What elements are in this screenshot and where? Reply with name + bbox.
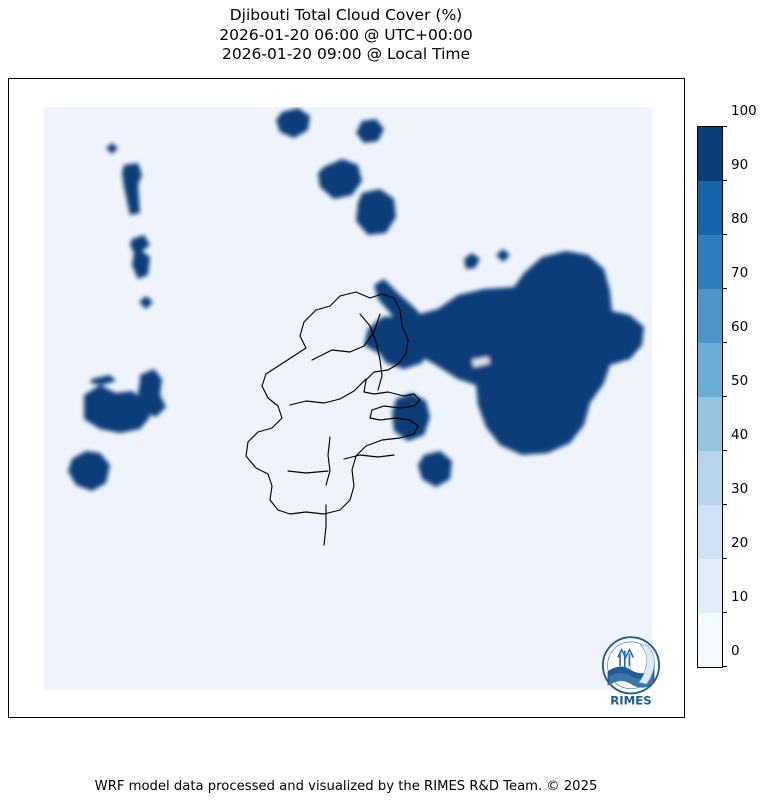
colorbar-band-0-10 bbox=[698, 613, 722, 667]
colorbar-tick-label-0: 0 bbox=[731, 643, 740, 659]
colorbar-tick-0 bbox=[722, 666, 727, 667]
colorbar-tick-label-40: 40 bbox=[731, 427, 748, 443]
colorbar-tick-50 bbox=[722, 396, 727, 397]
colorbar-band-20-30 bbox=[698, 505, 722, 559]
colorbar-band-30-40 bbox=[698, 451, 722, 505]
chart-title-block: Djibouti Total Cloud Cover (%) 2026-01-2… bbox=[0, 6, 692, 65]
footer-credit: WRF model data processed and visualized … bbox=[0, 779, 692, 794]
colorbar-tick-label-60: 60 bbox=[731, 319, 748, 335]
colorbar-tick-label-90: 90 bbox=[731, 157, 748, 173]
colorbar-tick-70 bbox=[722, 288, 727, 289]
colorbar-tick-30 bbox=[722, 504, 727, 505]
colorbar-tick-90 bbox=[722, 180, 727, 181]
rimes-logo: RIMES bbox=[592, 631, 670, 709]
colorbar-tick-40 bbox=[722, 450, 727, 451]
cloud-cover-field bbox=[44, 107, 652, 690]
colorbar-tick-label-20: 20 bbox=[731, 535, 748, 551]
colorbar-band-50-60 bbox=[698, 343, 722, 397]
colorbar-band-80-90 bbox=[698, 181, 722, 235]
rimes-logo-text: RIMES bbox=[610, 693, 651, 707]
colorbar-tick-label-100: 100 bbox=[731, 103, 757, 119]
colorbar-tick-60 bbox=[722, 342, 727, 343]
cloud-cover-raster bbox=[44, 107, 652, 690]
colorbar-tick-label-80: 80 bbox=[731, 211, 748, 227]
colorbar-tick-100 bbox=[722, 126, 727, 127]
colorbar-band-60-70 bbox=[698, 289, 722, 343]
colorbar-tick-80 bbox=[722, 234, 727, 235]
colorbar-tick-20 bbox=[722, 558, 727, 559]
colorbar-band-70-80 bbox=[698, 235, 722, 289]
colorbar-tick-label-50: 50 bbox=[731, 373, 748, 389]
cloud-patches bbox=[68, 108, 644, 491]
colorbar-tick-10 bbox=[722, 612, 727, 613]
page-title: Djibouti Total Cloud Cover (%) bbox=[0, 6, 692, 26]
title-utc-time: 2026-01-20 06:00 @ UTC+00:00 bbox=[0, 26, 692, 46]
colorbar-tick-label-70: 70 bbox=[731, 265, 748, 281]
colorbar-tick-label-10: 10 bbox=[731, 589, 748, 605]
colorbar-band-90-100 bbox=[698, 127, 722, 181]
colorbar: 0102030405060708090100 bbox=[697, 126, 723, 668]
colorbar-tick-label-30: 30 bbox=[731, 481, 748, 497]
map-plot-area: RIMES bbox=[8, 78, 685, 718]
title-local-time: 2026-01-20 09:00 @ Local Time bbox=[0, 45, 692, 65]
colorbar-band-40-50 bbox=[698, 397, 722, 451]
colorbar-band-10-20 bbox=[698, 559, 722, 613]
